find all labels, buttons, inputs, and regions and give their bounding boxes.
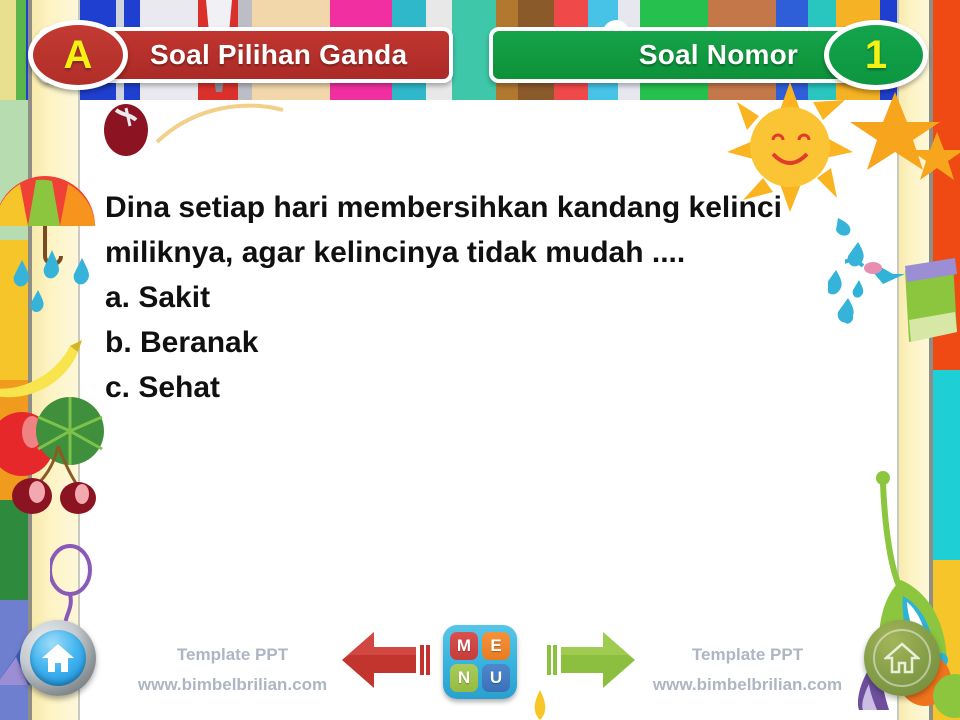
menu-tile-m: M — [450, 632, 478, 660]
home-icon — [884, 641, 920, 675]
home-button-right-inner — [873, 629, 931, 687]
watermark-right: Template PPT www.bimbelbrilian.com — [640, 640, 855, 700]
left-decoration-strip — [0, 0, 105, 720]
option-a[interactable]: a. Sakit — [105, 275, 850, 320]
home-button-left[interactable] — [20, 620, 96, 696]
cherry-icon — [10, 440, 105, 530]
paint-splash-icon — [96, 100, 156, 160]
question-type-badge-text: A — [64, 33, 93, 78]
question-type-badge: A — [28, 20, 128, 90]
question-text-line-2: miliknya, agar kelincinya tidak mudah ..… — [105, 230, 850, 275]
question-number-badge: 1 — [824, 20, 928, 90]
water-drop-icon — [10, 250, 105, 320]
menu-tile-n: N — [450, 664, 478, 692]
slide-canvas: Soal Pilihan Ganda A Soal Nomor 1 — [0, 0, 960, 720]
question-number-badge-text: 1 — [865, 33, 887, 78]
home-button-left-inner — [30, 630, 86, 686]
arrow-left-icon — [340, 628, 432, 692]
menu-tile-u: U — [482, 664, 510, 692]
option-c[interactable]: c. Sehat — [105, 365, 850, 410]
star-accent-icon — [520, 690, 560, 720]
watermark-left-line2: www.bimbelbrilian.com — [125, 670, 340, 700]
right-decoration-strip — [845, 0, 960, 720]
arrow-right-icon — [545, 628, 637, 692]
menu-tile-e: E — [482, 632, 510, 660]
option-b[interactable]: b. Beranak — [105, 320, 850, 365]
previous-button[interactable] — [340, 628, 432, 697]
next-button[interactable] — [545, 628, 637, 697]
watermark-right-line1: Template PPT — [640, 640, 855, 670]
watermark-left: Template PPT www.bimbelbrilian.com — [125, 640, 340, 700]
home-icon — [41, 642, 75, 674]
question-text-line-1: Dina setiap hari membersihkan kandang ke… — [105, 185, 850, 230]
pencil-stroke-icon — [155, 98, 285, 148]
watermark-left-line1: Template PPT — [125, 640, 340, 670]
banana-icon — [0, 330, 87, 400]
star-icon — [907, 130, 960, 185]
home-button-right[interactable] — [864, 620, 940, 696]
question-content: Dina setiap hari membersihkan kandang ke… — [105, 185, 850, 410]
menu-button[interactable]: M E N U — [443, 625, 517, 699]
watermark-right-line2: www.bimbelbrilian.com — [640, 670, 855, 700]
